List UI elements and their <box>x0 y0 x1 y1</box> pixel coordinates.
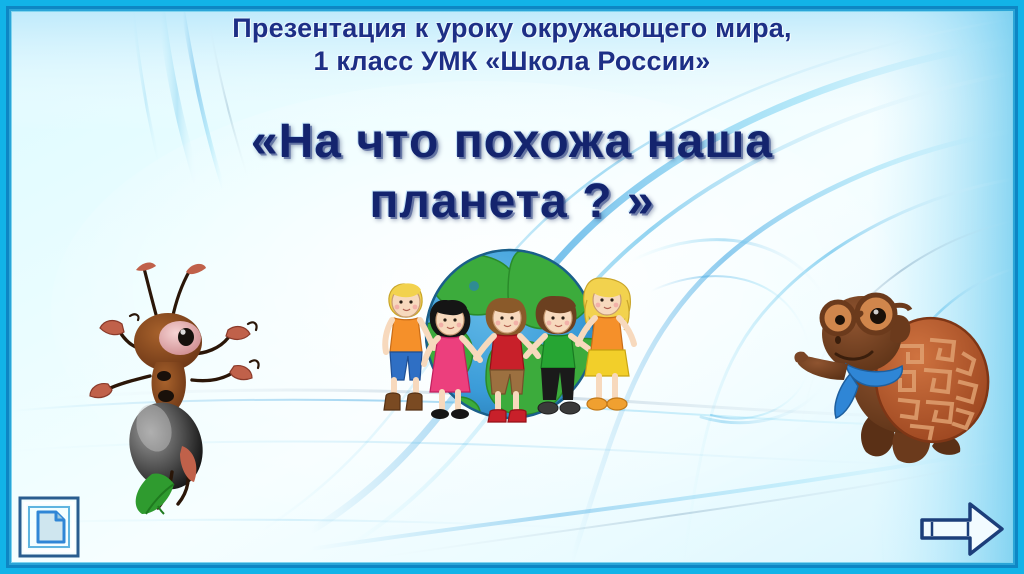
antenna-tip-right <box>186 264 206 274</box>
next-slide-button[interactable] <box>918 498 1006 560</box>
arrow-right-icon <box>918 498 1006 560</box>
globe-with-children-illustration <box>368 248 652 432</box>
ant-illustration <box>86 258 272 514</box>
presentation-slide: Презентация к уроку окружающего мира, 1 … <box>0 0 1024 574</box>
document-icon <box>18 496 80 558</box>
leaf <box>136 473 174 514</box>
turtle-illustration <box>792 262 1000 476</box>
document-button[interactable] <box>18 496 80 558</box>
antenna-tip-left <box>136 263 156 271</box>
